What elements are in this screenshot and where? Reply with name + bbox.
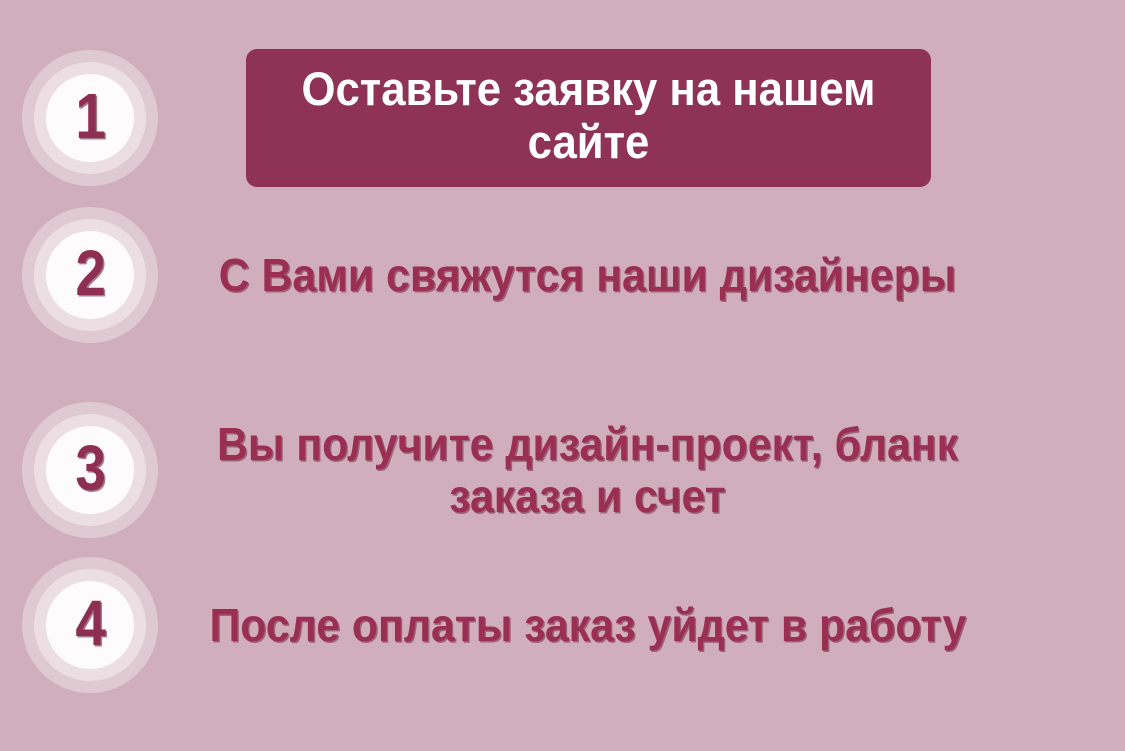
step-label-3: Вы получите дизайн-проект, бланк заказа …: [209, 418, 967, 523]
badge-ring-middle: 1: [34, 62, 146, 174]
step-row-4: 4 После оплаты заказ уйдет в работу: [0, 555, 1125, 695]
badge-ring-outer: 3: [22, 402, 158, 538]
step-text-container-2: С Вами свяжутся наши дизайнеры: [180, 249, 1125, 301]
step-text-container-4: После оплаты заказ уйдет в работу: [180, 599, 1125, 651]
badge-ring-middle: 4: [34, 569, 146, 681]
steps-infographic-slide: 1 Оставьте заявку на нашем сайте 2 С Ва: [0, 0, 1125, 751]
badge-ring-inner: 1: [46, 74, 134, 162]
step-label-2: С Вами свяжутся наши дизайнеры: [219, 249, 956, 301]
step-text-container-1: Оставьте заявку на нашем сайте: [180, 49, 1125, 186]
step-row-3: 3 Вы получите дизайн-проект, бланк заказ…: [0, 400, 1125, 540]
badge-ring-outer: 1: [22, 50, 158, 186]
step-number-1: 1: [75, 84, 105, 152]
step-number-2: 2: [75, 241, 105, 309]
step-row-2: 2 С Вами свяжутся наши дизайнеры: [0, 205, 1125, 345]
step-number-badge-1: 1: [0, 50, 180, 186]
step-number-4: 4: [75, 591, 105, 659]
step-label-4: После оплаты заказ уйдет в работу: [209, 599, 966, 651]
step-label-1: Оставьте заявку на нашем сайте: [294, 63, 883, 168]
step-text-container-3: Вы получите дизайн-проект, бланк заказа …: [180, 418, 1125, 523]
badge-ring-middle: 3: [34, 414, 146, 526]
badge-ring-inner: 4: [46, 581, 134, 669]
step-number-3: 3: [75, 436, 105, 504]
step-number-badge-3: 3: [0, 402, 180, 538]
badge-ring-outer: 2: [22, 207, 158, 343]
step-highlight-plate: Оставьте заявку на нашем сайте: [246, 49, 931, 186]
step-number-badge-2: 2: [0, 207, 180, 343]
badge-ring-inner: 3: [46, 426, 134, 514]
step-number-badge-4: 4: [0, 557, 180, 693]
badge-ring-middle: 2: [34, 219, 146, 331]
badge-ring-outer: 4: [22, 557, 158, 693]
badge-ring-inner: 2: [46, 231, 134, 319]
step-row-1: 1 Оставьте заявку на нашем сайте: [0, 48, 1125, 188]
